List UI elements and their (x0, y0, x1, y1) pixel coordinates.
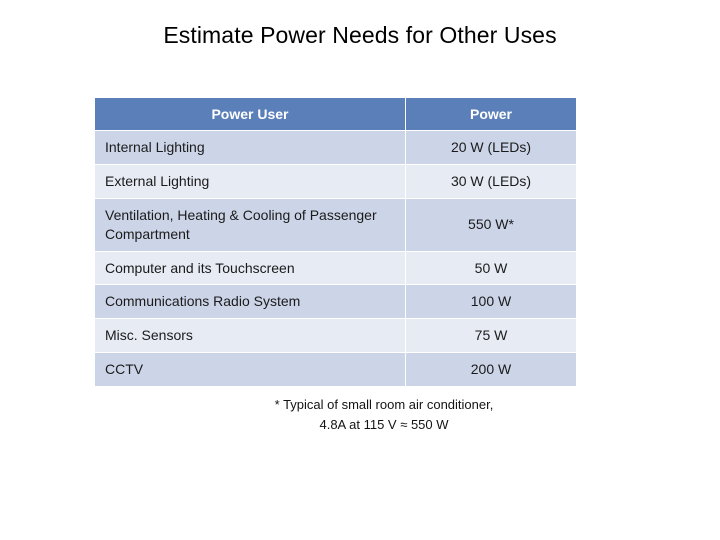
column-header-power: Power (406, 98, 577, 131)
cell-power-value: 75 W (406, 319, 577, 353)
page-title: Estimate Power Needs for Other Uses (0, 22, 720, 49)
cell-power-user: CCTV (95, 353, 406, 387)
table-row: CCTV 200 W (95, 353, 577, 387)
cell-power-user: Misc. Sensors (95, 319, 406, 353)
cell-power-value: 30 W (LEDs) (406, 164, 577, 198)
cell-power-user: Computer and its Touchscreen (95, 251, 406, 285)
power-table-container: Power User Power Internal Lighting 20 W … (94, 97, 576, 387)
cell-power-user: Internal Lighting (95, 131, 406, 165)
table-row: Misc. Sensors 75 W (95, 319, 577, 353)
column-header-power-user: Power User (95, 98, 406, 131)
table-header-row: Power User Power (95, 98, 577, 131)
footnote: * Typical of small room air conditioner,… (94, 395, 674, 435)
cell-power-value: 550 W* (406, 198, 577, 251)
table-header: Power User Power (95, 98, 577, 131)
cell-power-user: Communications Radio System (95, 285, 406, 319)
slide: Estimate Power Needs for Other Uses Powe… (0, 0, 720, 540)
cell-power-value: 20 W (LEDs) (406, 131, 577, 165)
table-row: External Lighting 30 W (LEDs) (95, 164, 577, 198)
footnote-line-2: 4.8A at 115 V ≈ 550 W (94, 415, 674, 435)
cell-power-user: Ventilation, Heating & Cooling of Passen… (95, 198, 406, 251)
table-row: Internal Lighting 20 W (LEDs) (95, 131, 577, 165)
table-body: Internal Lighting 20 W (LEDs) External L… (95, 131, 577, 387)
table-row: Communications Radio System 100 W (95, 285, 577, 319)
cell-power-value: 100 W (406, 285, 577, 319)
power-table: Power User Power Internal Lighting 20 W … (94, 97, 577, 387)
cell-power-value: 50 W (406, 251, 577, 285)
cell-power-value: 200 W (406, 353, 577, 387)
footnote-line-1: * Typical of small room air conditioner, (94, 395, 674, 415)
table-row: Ventilation, Heating & Cooling of Passen… (95, 198, 577, 251)
table-row: Computer and its Touchscreen 50 W (95, 251, 577, 285)
cell-power-user: External Lighting (95, 164, 406, 198)
